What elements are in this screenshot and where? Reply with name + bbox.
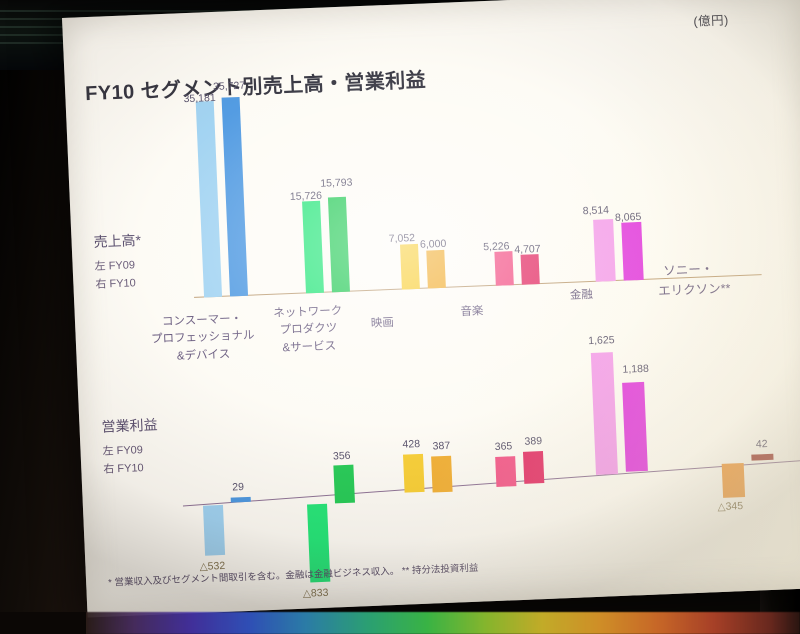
sales-legend-fy10: 右 FY10 — [95, 276, 136, 294]
category-label-music: 音楽 — [437, 302, 508, 322]
value-profit-se-fy09: △345 — [717, 500, 743, 513]
value-profit-financial-fy10: 1,188 — [622, 363, 649, 376]
value-sales-financial-fy10: 8,065 — [615, 211, 642, 224]
bar-sales-pictures-fy10 — [426, 250, 446, 289]
value-sales-music-fy09: 5,226 — [483, 240, 510, 253]
bar-profit-pictures-fy09 — [403, 454, 425, 493]
category-label-financial: 金融 — [546, 286, 617, 306]
projection-screen: (億円) FY10 セグメント別売上高・営業利益 売上高* 左 FY09 右 F… — [62, 0, 800, 617]
bar-profit-nps-fy10 — [333, 465, 355, 504]
bar-sales-pictures-fy09 — [400, 244, 420, 290]
value-sales-financial-fy09: 8,514 — [582, 204, 609, 217]
value-sales-nps-fy09: 15,726 — [290, 190, 323, 203]
profit-baseline — [183, 459, 800, 507]
sony-ericsson-label-line2: エリクソン** — [658, 279, 731, 301]
value-profit-nps-fy10: 356 — [333, 450, 351, 463]
profit-legend-fy09: 左 FY09 — [102, 443, 143, 461]
bar-profit-pictures-fy10 — [431, 456, 453, 493]
value-sales-music-fy10: 4,707 — [514, 243, 541, 256]
value-profit-cpd-fy10: 29 — [232, 481, 244, 493]
category-label-pictures: 映画 — [347, 314, 418, 334]
bar-sales-music-fy09 — [494, 251, 513, 286]
category-pictures-line1: 映画 — [347, 314, 418, 334]
profit-axis-label: 営業利益 — [101, 415, 158, 437]
value-profit-music-fy10: 389 — [524, 435, 542, 448]
bottom-left-dark-corner — [0, 612, 86, 634]
profit-chart-plot: △532 29 △833 356 428 387 365 389 — [179, 385, 800, 590]
category-music-line1: 音楽 — [437, 302, 508, 322]
value-sales-nps-fy10: 15,793 — [320, 176, 353, 189]
sales-axis-label: 売上高* — [93, 230, 141, 252]
value-sales-pictures-fy09: 7,052 — [388, 232, 415, 245]
value-profit-financial-fy09: 1,625 — [588, 334, 615, 347]
bar-profit-se-fy10 — [751, 454, 773, 461]
bar-sales-nps-fy09 — [302, 201, 324, 294]
slide-canvas: (億円) FY10 セグメント別売上高・営業利益 売上高* 左 FY09 右 F… — [62, 0, 800, 617]
value-profit-pictures-fy09: 428 — [402, 438, 420, 451]
bar-profit-financial-fy09 — [591, 352, 618, 475]
photo-of-projected-slide: (億円) FY10 セグメント別売上高・営業利益 売上高* 左 FY09 右 F… — [0, 0, 800, 634]
color-calibration-strip — [84, 612, 800, 634]
bar-sales-cpd-fy09 — [196, 101, 222, 298]
bar-profit-cpd-fy10 — [231, 497, 251, 503]
category-financial-line1: 金融 — [546, 286, 617, 306]
value-sales-cpd-fy10: 35,727 — [213, 80, 246, 93]
bar-profit-financial-fy10 — [622, 382, 648, 472]
profit-legend-fy10: 右 FY10 — [103, 461, 144, 479]
bar-sales-financial-fy09 — [593, 219, 616, 282]
value-profit-se-fy10: 42 — [756, 438, 768, 450]
bar-sales-financial-fy10 — [621, 222, 643, 281]
value-profit-pictures-fy10: 387 — [432, 440, 450, 453]
units-label: (億円) — [693, 9, 729, 29]
value-sales-pictures-fy10: 6,000 — [420, 238, 447, 251]
bar-sales-nps-fy10 — [328, 197, 350, 293]
bar-profit-se-fy09 — [722, 463, 745, 498]
bar-profit-music-fy10 — [523, 451, 544, 484]
value-profit-nps-fy09: △833 — [303, 587, 329, 600]
sony-ericsson-label-line1: ソニー・ — [663, 260, 714, 281]
value-profit-music-fy09: 365 — [494, 440, 512, 453]
bar-sales-cpd-fy10 — [222, 97, 248, 297]
sales-legend-fy09: 左 FY09 — [94, 258, 135, 276]
bar-profit-music-fy09 — [495, 456, 516, 487]
bar-sales-music-fy10 — [521, 254, 540, 285]
value-sales-cpd-fy09: 35,181 — [183, 92, 216, 105]
bar-profit-cpd-fy09 — [203, 505, 225, 556]
